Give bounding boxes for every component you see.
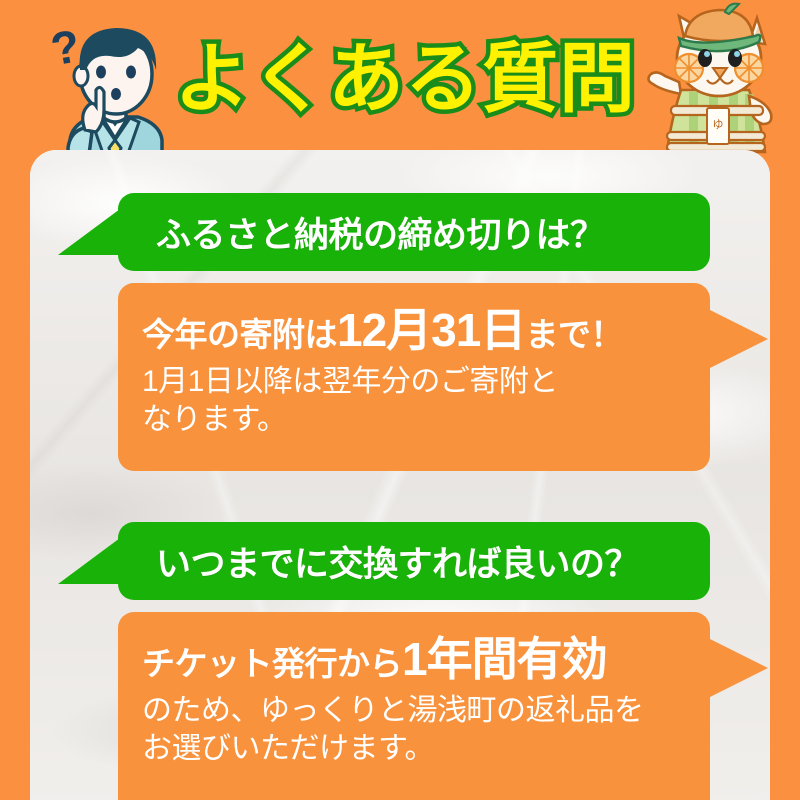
faq-answer-bubble-1: 今年の寄附は12月31日まで！ 1月1日以降は翌年分のご寄附と なります。 — [118, 283, 710, 471]
mascot-illustration: ゆ — [645, 2, 795, 174]
faq-question-bubble-1: ふるさと納税の締め切りは？ — [118, 193, 710, 271]
faq-question-text-2: いつまでに交換すれば良いの？ — [156, 536, 639, 587]
faq-answer-body-1: 1月1日以降は翌年分のご寄附と なります。 — [142, 363, 684, 440]
page-title: よくある質問 — [170, 22, 640, 122]
faq-item-2: いつまでに交換すれば良いの？ チケット発行から1年間有効 のため、ゆっくりと湯浅… — [118, 522, 710, 800]
page-title-text: よくある質問 — [174, 17, 636, 127]
mascot-badge-text: ゆ — [713, 118, 724, 131]
answer-body-line: 1月1日以降は翌年分のご寄附と — [142, 363, 684, 401]
answer-bubble-tail-1 — [708, 309, 768, 369]
answer-lead-tail-1: まで！ — [525, 316, 623, 353]
answer-body-line: なります。 — [142, 401, 684, 439]
faq-answer-body-2: のため、ゆっくりと湯浅町の返礼品を お選びいただけます。 — [142, 692, 684, 769]
answer-lead-2: チケット発行から — [142, 645, 402, 682]
answer-body-line: お選びいただけます。 — [142, 730, 684, 768]
answer-body-line: のため、ゆっくりと湯浅町の返礼品を — [142, 692, 684, 730]
answer-bubble-tail-2 — [708, 638, 768, 698]
faq-question-text-1: ふるさと納税の締め切りは？ — [156, 207, 605, 258]
question-bubble-tail-2 — [58, 538, 120, 584]
answer-highlight-1: 12月31日 — [337, 304, 525, 356]
faq-answer-headline-1: 今年の寄附は12月31日まで！ — [142, 305, 684, 357]
cat-mascot-svg: ゆ — [645, 2, 795, 174]
answer-lead-1: 今年の寄附は — [142, 316, 337, 353]
question-bubble-tail-1 — [58, 209, 120, 255]
faq-item-1: ふるさと納税の締め切りは？ 今年の寄附は12月31日まで！ 1月1日以降は翌年分… — [118, 193, 710, 471]
answer-highlight-2: 1年間有効 — [402, 633, 607, 685]
faq-graphic: ? — [0, 0, 800, 800]
faq-answer-headline-2: チケット発行から1年間有効 — [142, 634, 684, 686]
faq-answer-bubble-2: チケット発行から1年間有効 のため、ゆっくりと湯浅町の返礼品を お選びいただけま… — [118, 612, 710, 800]
header-band: ? — [0, 0, 800, 152]
faq-question-bubble-2: いつまでに交換すれば良いの？ — [118, 522, 710, 600]
